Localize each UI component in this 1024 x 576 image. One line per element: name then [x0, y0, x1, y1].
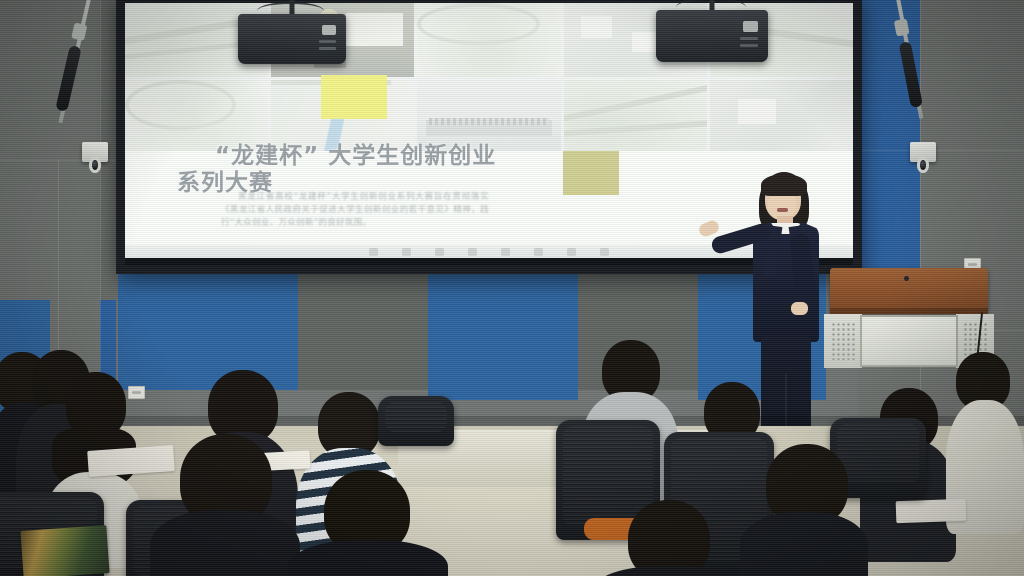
- student-body: [740, 512, 868, 576]
- toolbar-menu-icon[interactable]: [567, 248, 576, 256]
- microphone-capsule: [899, 41, 923, 108]
- toolbar-home-icon[interactable]: [369, 248, 378, 256]
- student-head: [628, 500, 710, 576]
- photo-road-network: [564, 80, 707, 154]
- presenter-hair-fringe: [761, 174, 807, 196]
- projector-lens: [322, 25, 336, 35]
- student-body: [150, 510, 300, 576]
- audience-student-foreground-mid: [740, 444, 868, 576]
- security-camera-left: [82, 142, 108, 174]
- microphone-clamp: [894, 18, 910, 36]
- ceiling-projector-right: [656, 10, 768, 62]
- audience-student-foreground-far-right: [594, 500, 744, 576]
- photo-bridge-construction: [710, 80, 853, 154]
- camera-lens: [917, 157, 928, 172]
- chair-mesh: [385, 402, 447, 432]
- desk-book-cover: [20, 525, 109, 576]
- student-body: [288, 540, 448, 576]
- toolbar-screenshot-icon[interactable]: [534, 248, 543, 256]
- security-camera-right: [910, 142, 936, 174]
- toolbar-back-icon[interactable]: [468, 248, 477, 256]
- toolbar-forward-icon[interactable]: [501, 248, 510, 256]
- toolbar-settings-icon[interactable]: [600, 248, 609, 256]
- audience-student-foreground-right: [288, 470, 448, 576]
- microphone-capsule: [55, 45, 82, 112]
- lectern-front-panel: [860, 315, 958, 367]
- projector-vent: [319, 40, 336, 43]
- slide-accent-yellow: [321, 75, 387, 119]
- desk-papers-right-2: [896, 499, 967, 523]
- projector-vent: [319, 47, 336, 50]
- student-body: [594, 566, 744, 576]
- ceiling-projector-left: [238, 14, 346, 64]
- photo-ring-road: [125, 80, 268, 154]
- wall-panel-blue-mid: [428, 270, 578, 400]
- toolbar-eraser-icon[interactable]: [435, 248, 444, 256]
- projector-body: [238, 14, 346, 64]
- wall-panel-gray-mid: [298, 270, 428, 390]
- photo-auditorium: [417, 80, 560, 154]
- toolbar-pen-icon[interactable]: [402, 248, 411, 256]
- wall-seam: [858, 150, 1024, 151]
- projector-body: [656, 10, 768, 62]
- photo-interchange-aerial: [417, 3, 560, 77]
- camera-lens: [89, 157, 100, 172]
- projector-lens: [743, 21, 758, 31]
- slide-body-text: 黑龙江省高校“龙建杯”大学生创新创业系列大赛旨在贯彻落实《黑龙江省人民政府关于促…: [221, 191, 489, 231]
- slide-title-line-1: “龙建杯” 大学生创新创业: [177, 143, 597, 170]
- projector-vent: [740, 37, 758, 40]
- slide-title: “龙建杯” 大学生创新创业 系列大赛: [177, 143, 597, 197]
- chair-mid-left: [378, 396, 454, 446]
- presenter-mouth: [777, 208, 788, 212]
- presenter-hand-right: [791, 302, 808, 315]
- projector-vent: [740, 44, 758, 47]
- lectern-microphone: [904, 276, 909, 281]
- lectern-top: [830, 268, 988, 312]
- screenshot-root: “龙建杯” 大学生创新创业 系列大赛 黑龙江省高校“龙建杯”大学生创新创业系列大…: [0, 0, 1024, 576]
- microphone-clamp: [71, 22, 87, 41]
- audience-student-foreground-center: [150, 434, 300, 576]
